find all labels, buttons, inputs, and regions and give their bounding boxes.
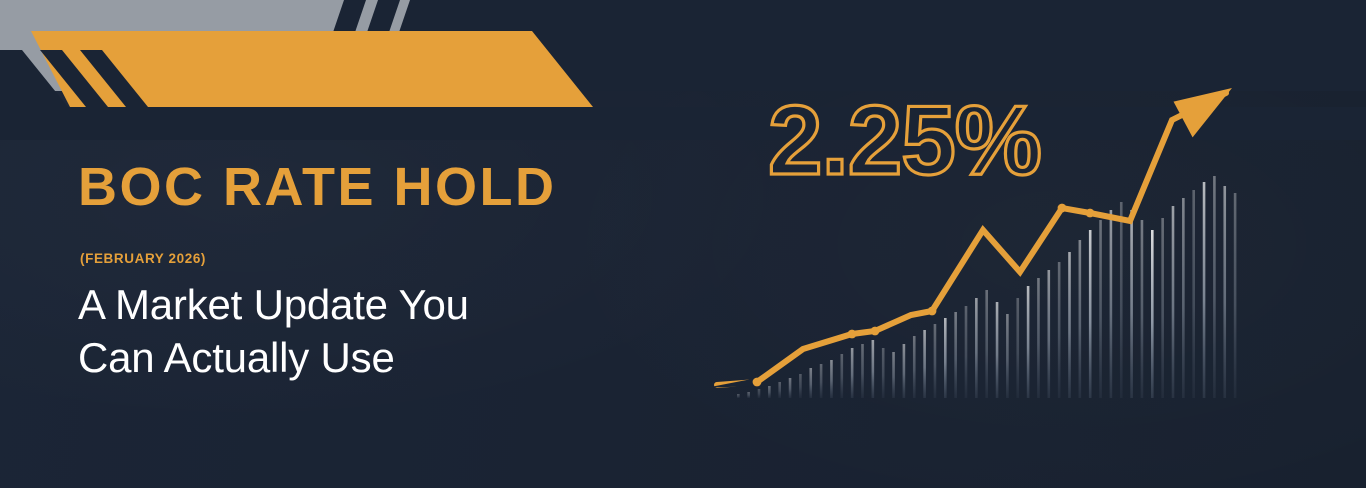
chart-bar: [872, 340, 875, 398]
chart-bar: [830, 360, 833, 398]
arrow-head-icon: [1174, 88, 1232, 137]
line-vertex-marker: [753, 378, 762, 387]
chart-bar: [758, 389, 761, 398]
chart-bar: [809, 368, 812, 398]
line-vertex-marker: [848, 330, 857, 339]
line-vertex-marker: [928, 307, 937, 316]
chart-bar: [944, 318, 947, 398]
chart-bar: [1182, 198, 1185, 398]
chart-bar: [1079, 240, 1082, 398]
growth-chart: [0, 0, 1366, 488]
chart-bar: [892, 352, 895, 398]
chart-bar: [768, 386, 771, 398]
chart-bar: [789, 378, 792, 398]
chart-bar: [913, 336, 916, 398]
chart-bar: [778, 382, 781, 398]
chart-bar: [1099, 220, 1102, 398]
chart-bar: [1203, 182, 1206, 398]
line-vertex-marker: [1086, 209, 1095, 218]
chart-bar: [1037, 278, 1040, 398]
chart-line: [713, 88, 1232, 388]
chart-bar: [1006, 314, 1009, 398]
chart-bar: [1120, 202, 1123, 398]
chart-bar: [1027, 286, 1030, 398]
chart-bar: [882, 348, 885, 398]
line-vertex-marker: [871, 327, 880, 336]
trend-line: [717, 93, 1226, 385]
chart-bar: [975, 298, 978, 398]
chart-bar: [1089, 230, 1092, 398]
chart-bar: [903, 344, 906, 398]
chart-bar: [1172, 206, 1175, 398]
chart-bar: [1151, 230, 1154, 398]
banner-root: BOC RATE HOLD (FEBRUARY 2026) A Market U…: [0, 0, 1366, 488]
chart-bar: [1068, 252, 1071, 398]
chart-bar: [1234, 193, 1237, 398]
chart-bars: [737, 176, 1236, 398]
chart-bar: [1213, 176, 1216, 398]
chart-bar: [1130, 210, 1133, 398]
line-vertex-marker: [1058, 204, 1067, 213]
chart-bar: [954, 312, 957, 398]
chart-bar: [851, 348, 854, 398]
chart-bar: [1048, 270, 1051, 398]
chart-bar: [841, 354, 844, 398]
chart-bar: [820, 364, 823, 398]
chart-bar: [1223, 186, 1226, 398]
chart-bar: [1058, 262, 1061, 398]
chart-bar: [996, 302, 999, 398]
chart-bar: [747, 392, 750, 398]
chart-bar: [985, 290, 988, 398]
chart-bar: [737, 394, 740, 398]
chart-bar: [1161, 218, 1164, 398]
chart-bar: [799, 374, 802, 398]
chart-bar: [1110, 210, 1113, 398]
chart-bar: [965, 306, 968, 398]
chart-bar: [861, 344, 864, 398]
chart-bar: [1192, 190, 1195, 398]
chart-bar: [934, 324, 937, 398]
chart-bar: [1016, 298, 1019, 398]
chart-bar: [923, 330, 926, 398]
chart-bar: [1141, 220, 1144, 398]
